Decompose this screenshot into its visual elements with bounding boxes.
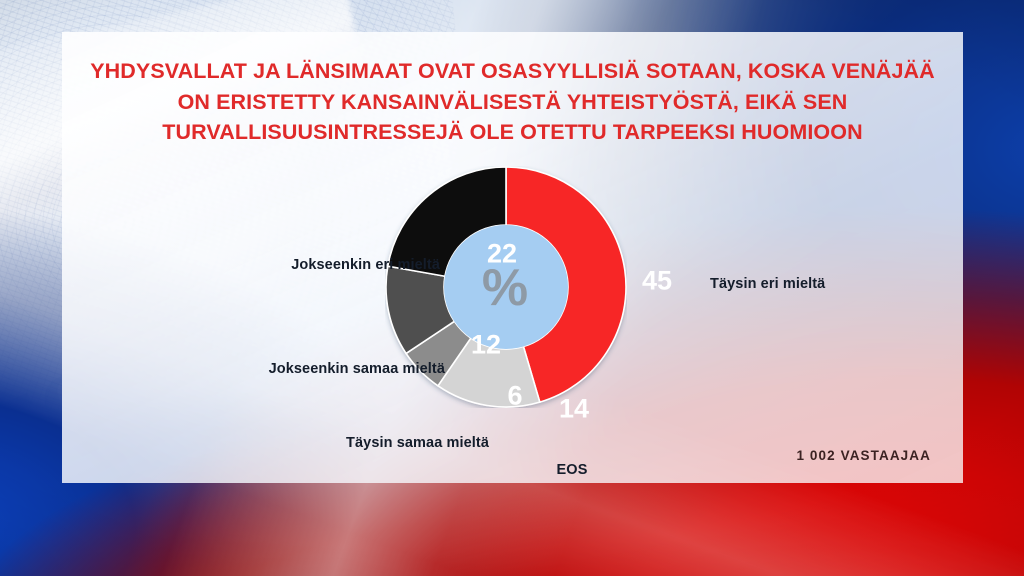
slice-value-1: 45 bbox=[642, 268, 672, 295]
slice-value-5: 22 bbox=[487, 241, 517, 268]
slice-value-3: 6 bbox=[507, 383, 522, 410]
slice-label-2: EOS bbox=[557, 462, 588, 478]
poll-result-card: YHDYSVALLAT JA LÄNSIMAAT OVAT OSASYYLLIS… bbox=[62, 32, 963, 483]
slice-label-1: Täysin eri mieltä bbox=[710, 276, 825, 292]
percent-symbol: % bbox=[482, 262, 528, 314]
slice-label-4: Jokseenkin samaa mieltä bbox=[269, 361, 445, 377]
slice-value-2: 14 bbox=[559, 396, 589, 423]
slice-label-5: Jokseenkin eri mieltä bbox=[291, 257, 440, 273]
respondent-count: 1 002 VASTAAJAA bbox=[796, 448, 931, 463]
slice-value-4: 12 bbox=[471, 332, 501, 359]
donut-chart: % 451461222 Täysin eri mieltäEOSTäysin s… bbox=[62, 32, 963, 483]
slice-label-3: Täysin samaa mieltä bbox=[346, 435, 489, 451]
